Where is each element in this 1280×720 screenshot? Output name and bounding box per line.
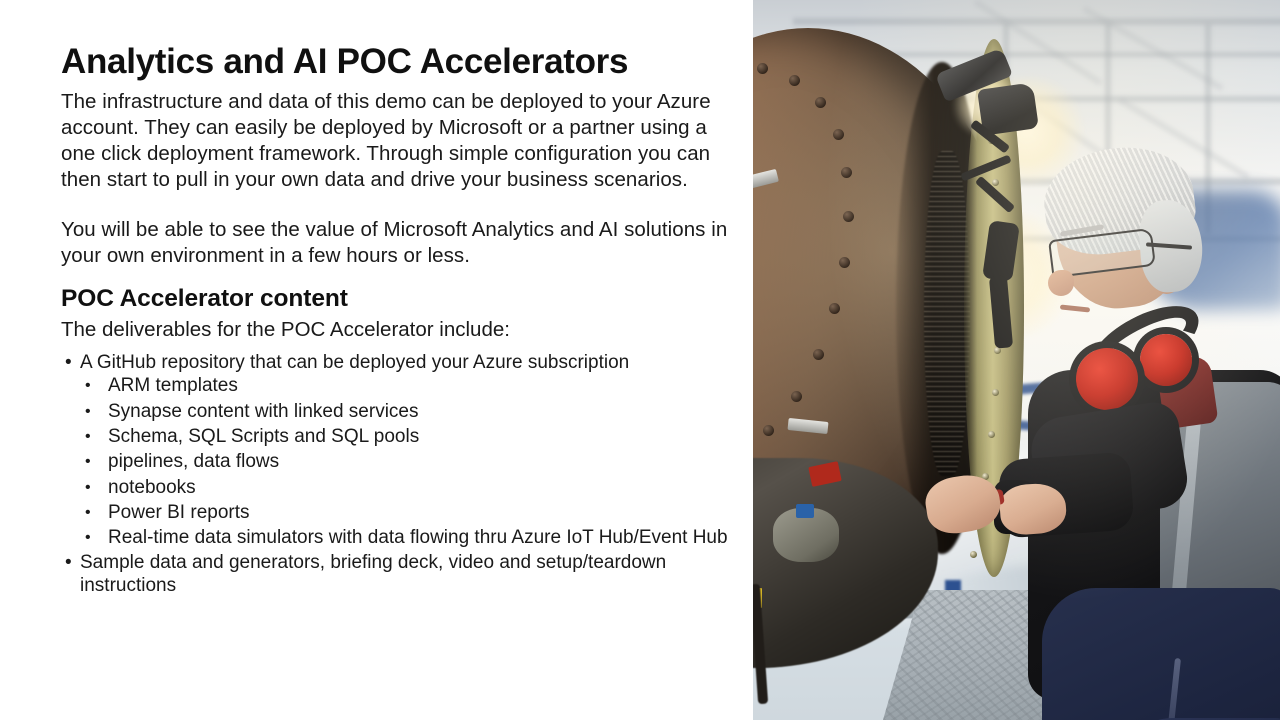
list-item-label: Power BI reports (108, 502, 250, 523)
list-item: • Synapse content with linked services (61, 401, 733, 423)
deliverables-intro-line: The deliverables for the POC Accelerator… (61, 317, 733, 343)
list-item-label: A GitHub repository that can be deployed… (80, 352, 629, 373)
list-item: • Schema, SQL Scripts and SQL pools (61, 426, 733, 448)
ear-defender-cup (1140, 334, 1192, 386)
intro-paragraph-2: You will be able to see the value of Mic… (61, 217, 733, 269)
list-item-label: Sample data and generators, briefing dec… (80, 552, 666, 595)
bullet-dot-icon: • (65, 352, 72, 374)
section-subheading: POC Accelerator content (61, 285, 733, 313)
intro-paragraph-1: The infrastructure and data of this demo… (61, 89, 733, 193)
list-item-label: notebooks (108, 477, 196, 498)
list-item-label: Synapse content with linked services (108, 401, 419, 422)
nose (1048, 270, 1074, 296)
deliverables-sublist: • ARM templates • Synapse content with l… (61, 375, 733, 549)
trousers (1042, 588, 1280, 720)
list-item-label: Real-time data simulators with data flow… (108, 527, 728, 548)
list-item: • ARM templates (61, 375, 733, 397)
list-item: • Real-time data simulators with data fl… (61, 527, 733, 549)
bullet-dot-icon: • (85, 502, 91, 524)
deliverables-list: • A GitHub repository that can be deploy… (61, 352, 733, 597)
list-item-label: ARM templates (108, 375, 238, 396)
list-item: • Sample data and generators, briefing d… (61, 552, 733, 596)
bullet-dot-icon: • (65, 552, 72, 574)
bullet-dot-icon: • (85, 375, 91, 397)
list-item: • A GitHub repository that can be deploy… (61, 352, 733, 374)
bullet-dot-icon: • (85, 451, 91, 473)
bullet-dot-icon: • (85, 401, 91, 423)
engine-blue-fitting (796, 504, 814, 518)
list-item: • notebooks (61, 477, 733, 499)
page-title: Analytics and AI POC Accelerators (61, 41, 733, 82)
list-item-label: Schema, SQL Scripts and SQL pools (108, 426, 419, 447)
text-content-column: Analytics and AI POC Accelerators The in… (61, 41, 733, 598)
paragraph-spacer (61, 193, 733, 217)
slide: Analytics and AI POC Accelerators The in… (0, 0, 1280, 720)
list-item: • Power BI reports (61, 502, 733, 524)
bullet-dot-icon: • (85, 477, 91, 499)
list-item: • pipelines, data flows (61, 451, 733, 473)
hangar-technician-photo (753, 0, 1280, 720)
bullet-dot-icon: • (85, 527, 91, 549)
technician (964, 158, 1280, 720)
ear-defender-cup (1076, 348, 1138, 410)
mouth (1060, 304, 1090, 312)
bullet-dot-icon: • (85, 426, 91, 448)
list-item-label: pipelines, data flows (108, 451, 279, 472)
